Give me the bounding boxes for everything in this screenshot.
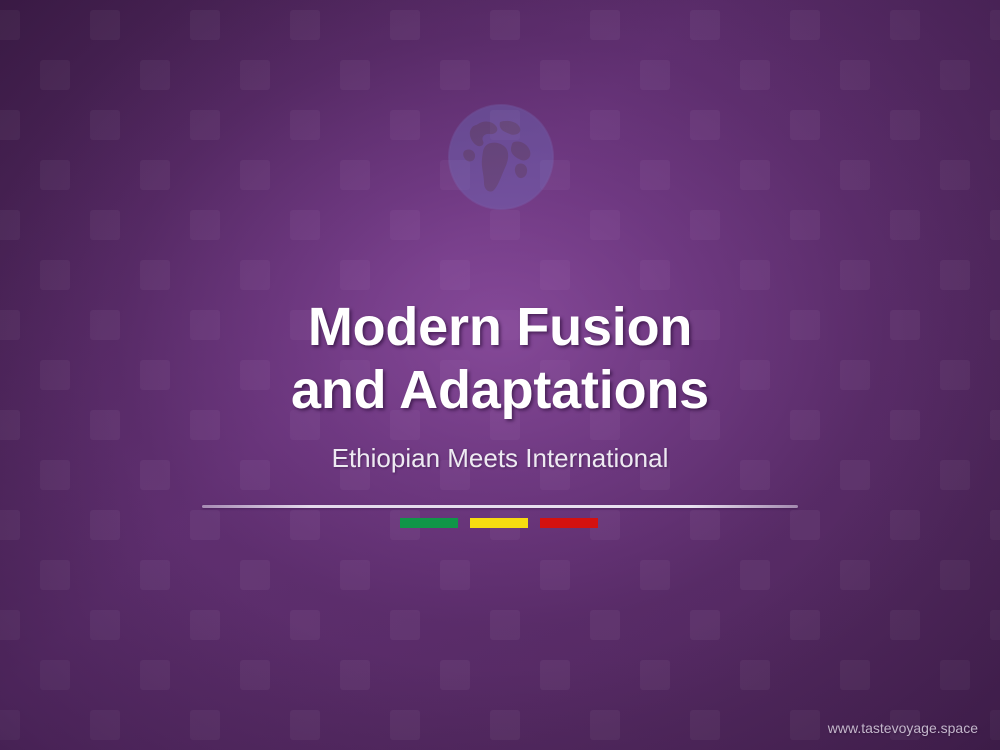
accent-bar-red (540, 518, 598, 528)
footer-website-url: www.tastevoyage.space (828, 720, 978, 736)
accent-bar-green (400, 518, 458, 528)
slide-title: Modern Fusion and Adaptations (0, 296, 1000, 422)
globe-earth-africa-icon (448, 104, 554, 210)
title-divider-rule (202, 505, 798, 508)
accent-bar-yellow (470, 518, 528, 528)
slide-title-line-1: Modern Fusion (0, 296, 1000, 359)
presentation-slide: Modern Fusion and Adaptations Ethiopian … (0, 0, 1000, 750)
slide-subtitle: Ethiopian Meets International (0, 443, 1000, 474)
slide-title-line-2: and Adaptations (0, 359, 1000, 422)
ethiopian-flag-accent-bars (400, 518, 598, 528)
